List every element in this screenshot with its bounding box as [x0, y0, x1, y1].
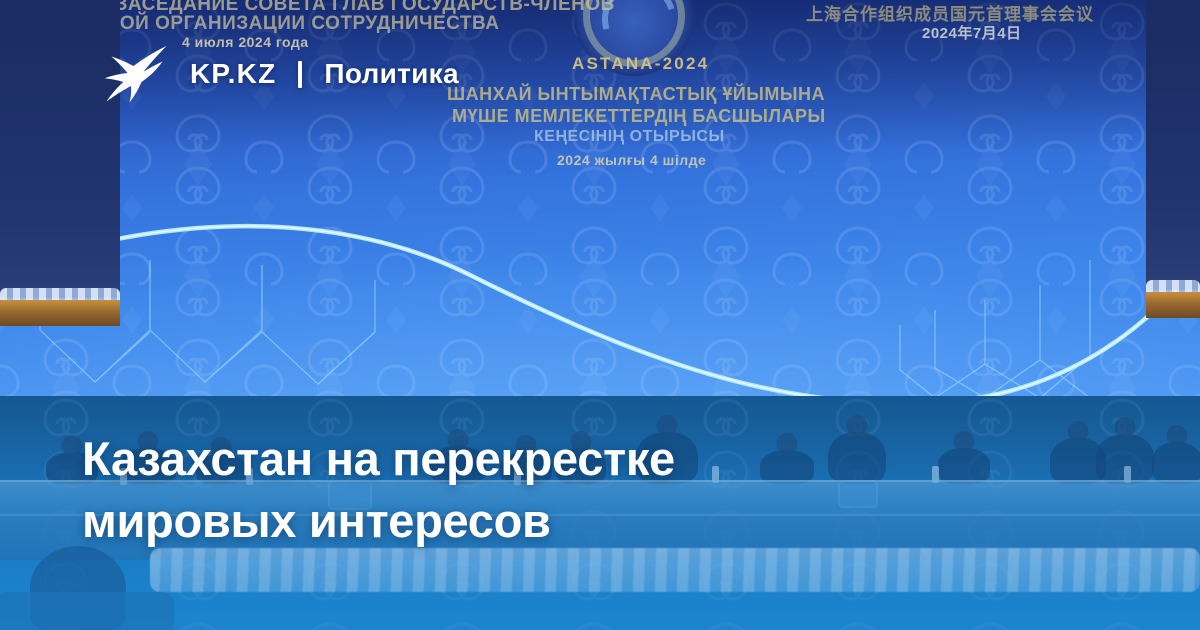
screen-chinese-date: 2024年7月4日 [922, 22, 1022, 43]
brand-name[interactable]: KP.KZ [190, 58, 276, 90]
stage-right-panel [1146, 0, 1200, 290]
screen-astana-label: ASTANA-2024 [572, 54, 709, 74]
headline: Казахстан на перекрестке мировых интерес… [82, 428, 962, 552]
swallow-bird-icon [96, 44, 170, 104]
brand-bar[interactable]: KP.KZ Политика [96, 44, 459, 104]
bridge-curve-graphic [0, 120, 1200, 400]
screen-kazakh-line1: ШАНХАЙ ЫНТЫМАҚТАСТЫҚ ҰЙЫМЫНА [447, 84, 825, 105]
headline-line-1: Казахстан на перекрестке [82, 428, 962, 490]
rubric-label[interactable]: Политика [324, 58, 458, 90]
stage-right-table [1146, 292, 1200, 318]
social-share-card: …ЗАСЕДАНИЕ СОВЕТА ГЛАВ ГОСУДАРСТВ-ЧЛЕНОВ… [0, 0, 1200, 630]
headline-line-2: мировых интересов [82, 490, 962, 552]
stage-left-table [0, 300, 120, 326]
brand-separator [298, 61, 302, 88]
